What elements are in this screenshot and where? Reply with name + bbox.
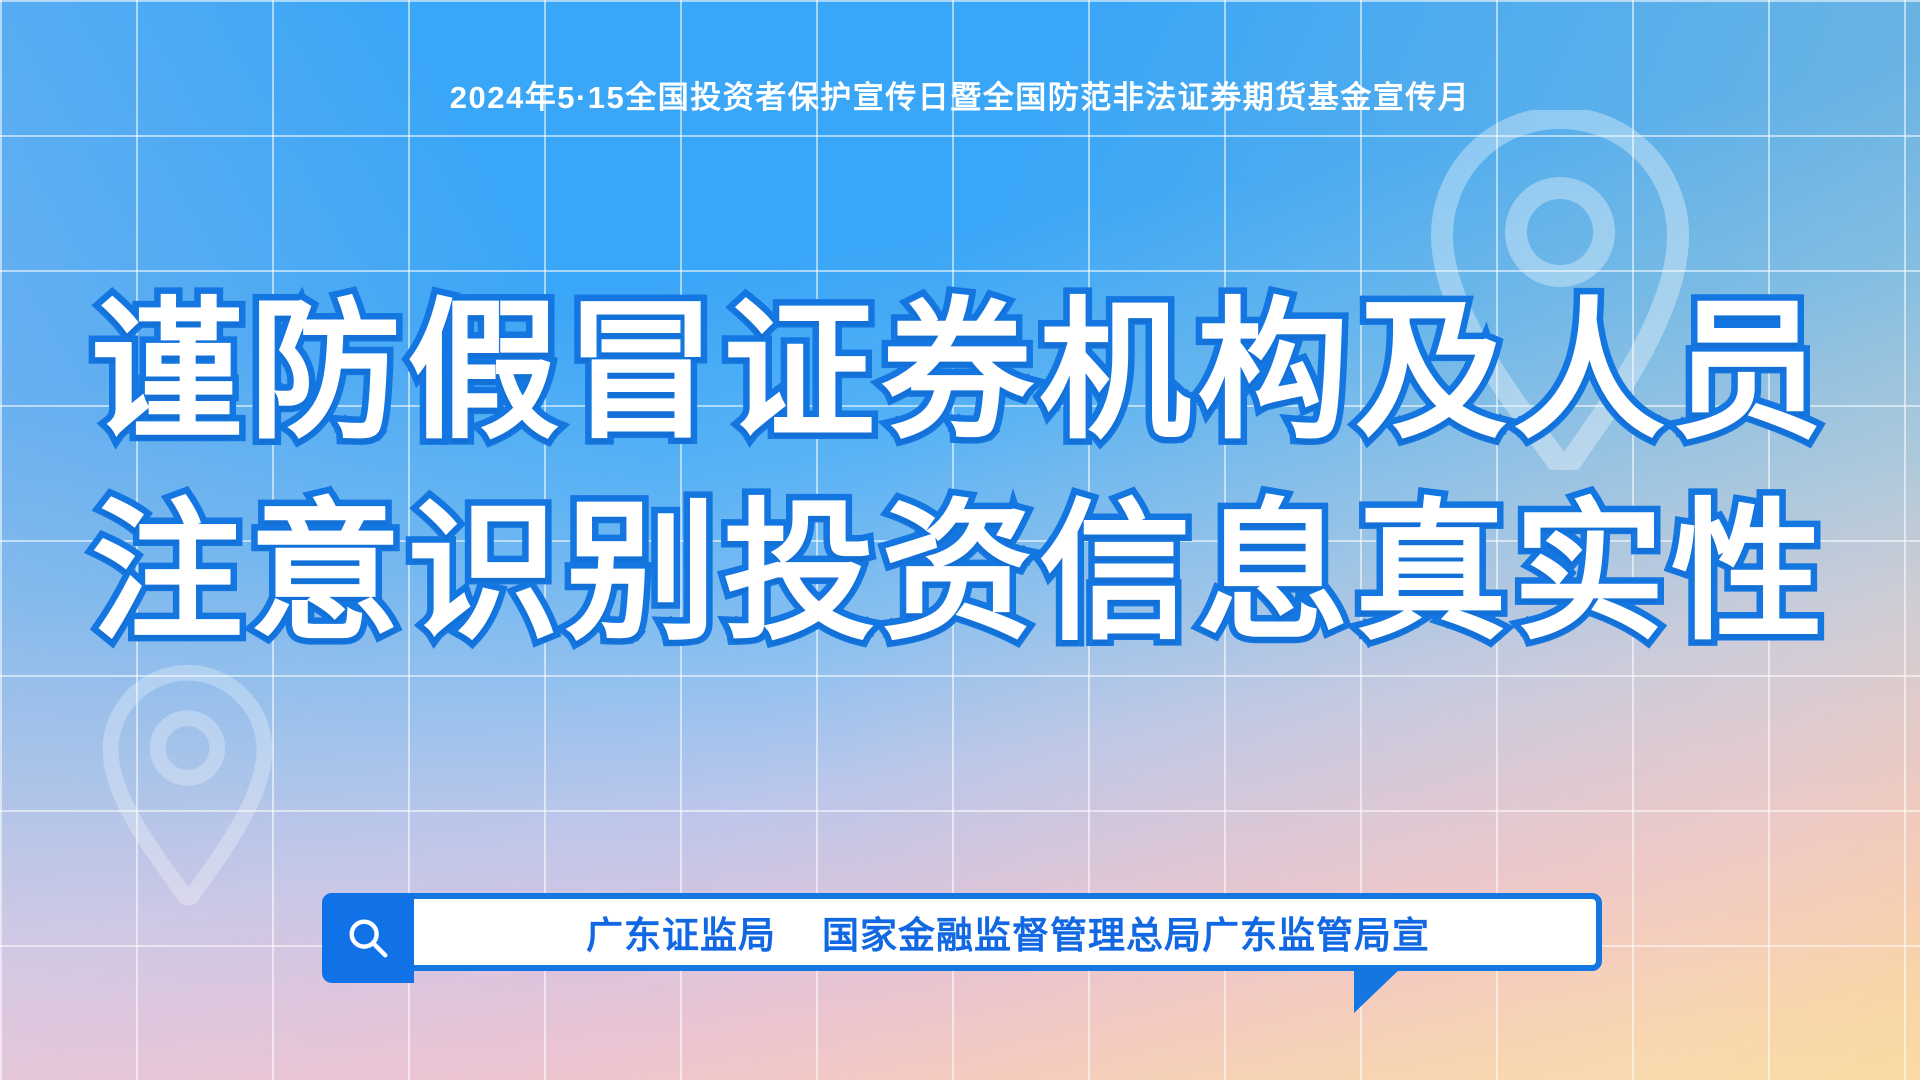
org-primary-label: 广东证监局: [586, 905, 776, 959]
search-icon: [322, 893, 414, 983]
title-line-1: 谨防假冒证券机构及人员: [0, 272, 1920, 473]
org-secondary-label: 国家金融监督管理总局广东监管局宣: [822, 905, 1430, 959]
poster-canvas: 2024年5·15全国投资者保护宣传日暨全国防范非法证券期货基金宣传月 谨防假冒…: [0, 0, 1920, 1080]
page-subtitle-banner: 2024年5·15全国投资者保护宣传日暨全国防范非法证券期货基金宣传月: [0, 72, 1920, 117]
page-title: 谨防假冒证券机构及人员 注意识别投资信息真实性: [0, 272, 1920, 673]
title-line-2: 注意识别投资信息真实性: [0, 473, 1920, 674]
footer-organizations: 广东证监局 国家金融监督管理总局广东监管局宣: [420, 899, 1596, 965]
footer-bar: 广东证监局 国家金融监督管理总局广东监管局宣: [322, 893, 1602, 971]
footer-speech-bubble: 广东证监局 国家金融监督管理总局广东监管局宣: [322, 893, 1602, 971]
speech-bubble-tail: [1354, 969, 1400, 1013]
